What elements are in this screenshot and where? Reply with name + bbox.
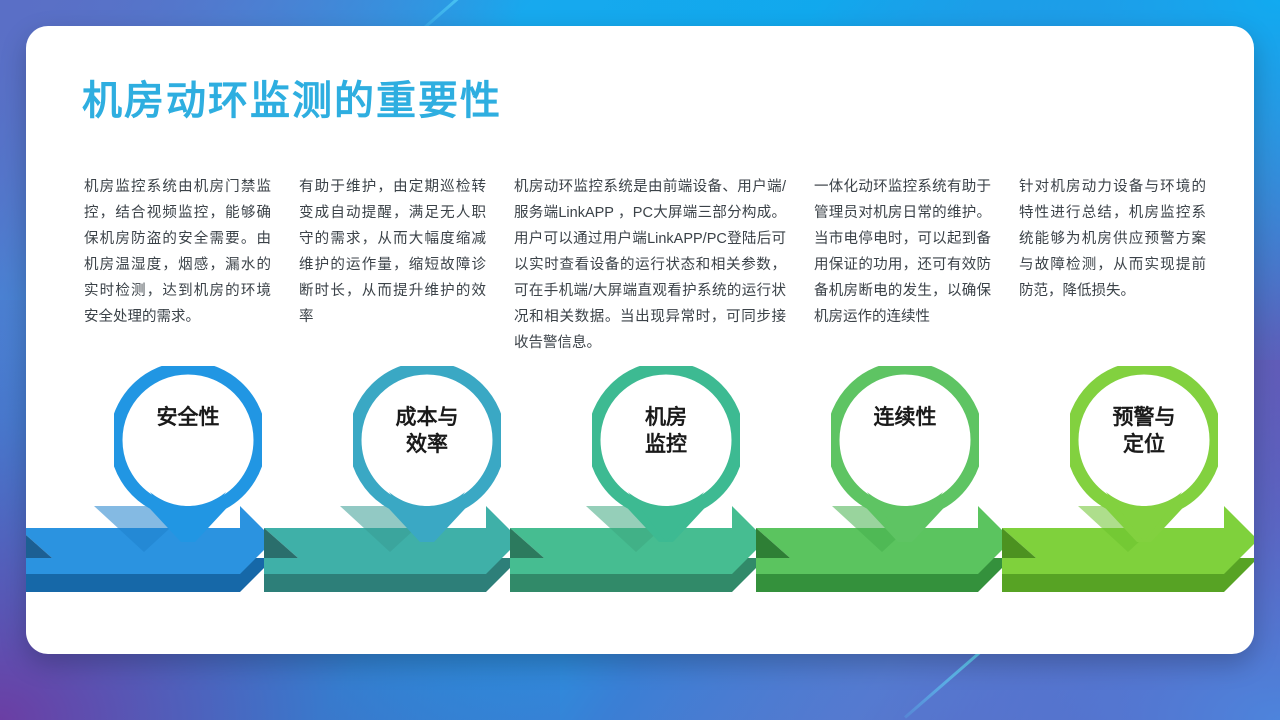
pin-marker-3[interactable]: 机房 监控: [592, 366, 740, 542]
description-column-3: 机房动环监控系统是由前端设备、用户端/服务端LinkAPP ，PC大屏端三部分构…: [500, 174, 800, 374]
pin-marker-2[interactable]: 成本与 效率: [353, 366, 501, 542]
pin-marker-4[interactable]: 连续性: [831, 366, 979, 542]
description-column-1: 机房监控系统由机房门禁监控，结合视频监控，能够确保机房防盗的安全需要。由机房温湿…: [70, 174, 285, 374]
slide-canvas: 机房动环监测的重要性 机房监控系统由机房门禁监控，结合视频监控，能够确保机房防盗…: [0, 0, 1280, 720]
description-column-4: 一体化动环监控系统有助于管理员对机房日常的维护。当市电停电时，可以起到备用保证的…: [800, 174, 1005, 374]
description-column-2: 有助于维护，由定期巡检转变成自动提醒，满足无人职守的需求，从而大幅度缩减维护的运…: [285, 174, 500, 374]
pin-marker-label-5: 预警与 定位: [1070, 404, 1218, 458]
pin-marker-row: 安全性成本与 效率机房 监控连续性预警与 定位: [26, 366, 1254, 546]
pin-marker-label-2: 成本与 效率: [353, 404, 501, 458]
pin-marker-5[interactable]: 预警与 定位: [1070, 366, 1218, 542]
pin-marker-label-1: 安全性: [114, 404, 262, 431]
page-title: 机房动环监测的重要性: [82, 68, 502, 126]
description-columns: 机房监控系统由机房门禁监控，结合视频监控，能够确保机房防盗的安全需要。由机房温湿…: [70, 174, 1220, 374]
pin-marker-label-3: 机房 监控: [592, 404, 740, 458]
description-column-5: 针对机房动力设备与环境的特性进行总结，机房监控系统能够为机房供应预警方案与故障检…: [1005, 174, 1220, 374]
pin-marker-label-4: 连续性: [831, 404, 979, 431]
pin-marker-1[interactable]: 安全性: [114, 366, 262, 542]
content-card: 机房动环监测的重要性 机房监控系统由机房门禁监控，结合视频监控，能够确保机房防盗…: [26, 26, 1254, 654]
